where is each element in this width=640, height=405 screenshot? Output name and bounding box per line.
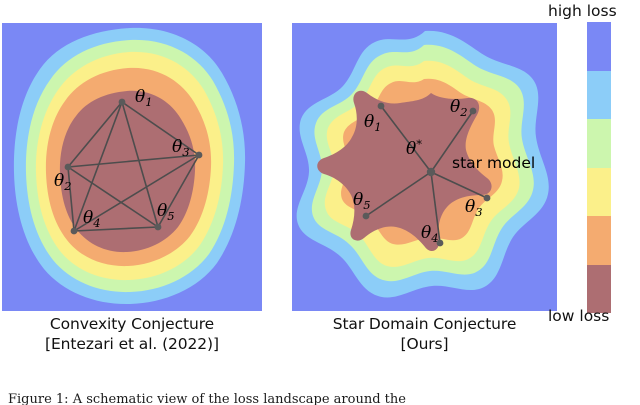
right-panel-graph: θ1θ2θ3θ4θ5θ*star model <box>292 23 557 311</box>
colorbar-band-2 <box>587 71 611 120</box>
label-theta2: θ2 <box>450 97 468 119</box>
node-theta1 <box>378 103 385 110</box>
right-panel-caption-line1: Star Domain Conjecture <box>292 314 557 334</box>
figure-container: θ1θ2θ3θ4θ5 θ1θ2θ3θ4θ5θ*star model Convex… <box>0 0 640 405</box>
node-theta5 <box>155 224 162 231</box>
left-panel-convexity: θ1θ2θ3θ4θ5 <box>2 23 262 311</box>
star-model-label: star model <box>452 154 535 172</box>
node-theta5 <box>363 213 370 220</box>
colorbar-band-5 <box>587 216 611 265</box>
edge-thetastar-theta3 <box>431 172 487 198</box>
label-theta1: θ1 <box>135 87 153 109</box>
label-theta3: θ3 <box>172 137 190 159</box>
node-theta2 <box>65 164 72 171</box>
edge-theta2-theta4 <box>68 167 74 231</box>
left-panel-caption-line2: [Entezari et al. (2022)] <box>2 334 262 354</box>
edge-theta1-theta5 <box>122 102 158 227</box>
colorbar-band-3 <box>587 119 611 168</box>
colorbar-high-loss-label: high loss <box>548 2 640 20</box>
colorbar <box>587 22 611 313</box>
node-theta4 <box>71 228 78 235</box>
colorbar-low-loss-label: low loss <box>548 307 640 325</box>
label-theta1: θ1 <box>364 112 382 134</box>
label-theta5: θ5 <box>157 201 175 223</box>
left-panel-graph: θ1θ2θ3θ4θ5 <box>2 23 262 311</box>
edge-thetastar-theta5 <box>366 172 431 216</box>
label-theta5: θ5 <box>353 190 371 212</box>
node-theta3 <box>196 152 203 159</box>
right-panel-caption-line2: [Ours] <box>292 334 557 354</box>
label-theta4: θ4 <box>83 208 101 230</box>
label-thetastar: θ* <box>406 137 422 159</box>
figure-caption: Figure 1: A schematic view of the loss l… <box>8 392 632 405</box>
node-theta1 <box>119 99 126 106</box>
edge-theta2-theta5 <box>68 167 158 227</box>
colorbar-band-high <box>587 22 611 71</box>
label-theta3: θ3 <box>465 197 483 219</box>
left-panel-caption-line1: Convexity Conjecture <box>2 314 262 334</box>
node-theta3 <box>484 195 491 202</box>
colorbar-band-4 <box>587 168 611 217</box>
edge-theta1-theta2 <box>68 102 122 167</box>
node-thetastar <box>427 168 435 176</box>
node-theta2 <box>470 108 477 115</box>
colorbar-band-low <box>587 265 611 314</box>
label-theta4: θ4 <box>421 223 439 245</box>
right-panel-star-domain: θ1θ2θ3θ4θ5θ*star model <box>292 23 557 311</box>
